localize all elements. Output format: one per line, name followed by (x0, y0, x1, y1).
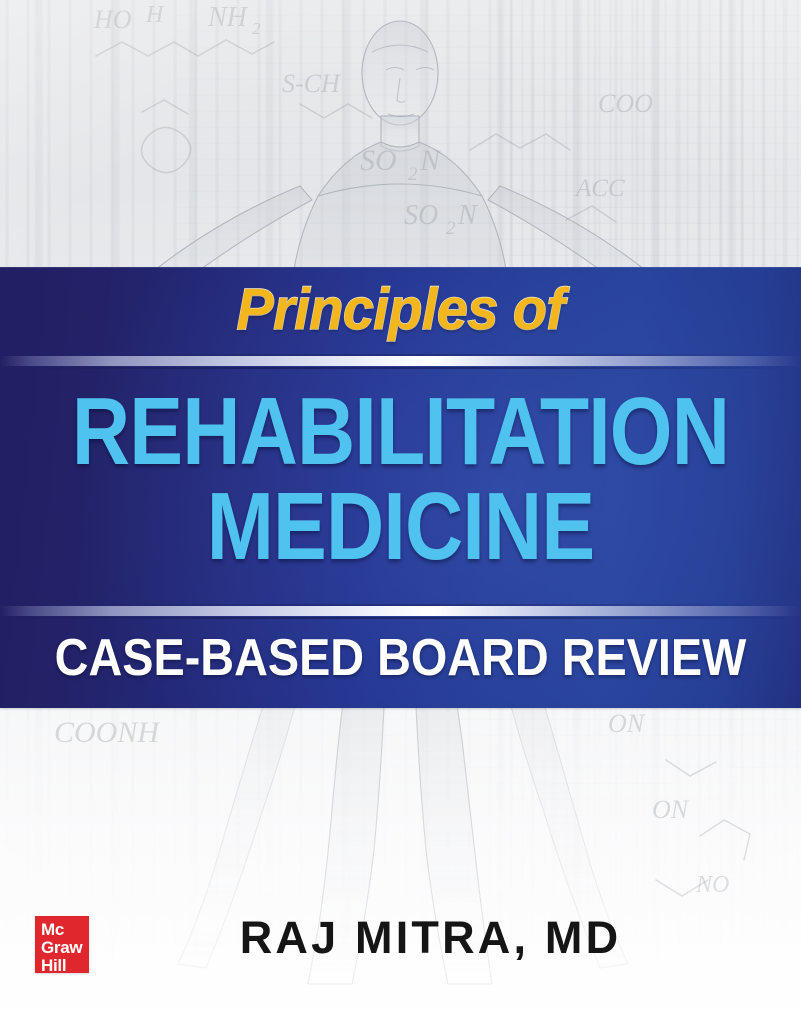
book-subtitle: CASE-BASED BOARD REVIEW (40, 632, 761, 684)
divider-rule-bottom (0, 606, 801, 616)
title-prefix: Principles of (16, 281, 785, 339)
book-title: REHABILITATION MEDICINE (0, 384, 801, 574)
divider-rule-top (0, 356, 801, 366)
book-title-line-2: MEDICINE (64, 479, 737, 574)
author-name: RAJ MITRA, MD (130, 915, 731, 960)
mcgraw-hill-logo: Mc Graw Hill (35, 916, 89, 973)
logo-line-3: Hill (41, 957, 89, 975)
logo-line-1: Mc (41, 921, 89, 939)
book-title-line-1: REHABILITATION (64, 384, 737, 479)
logo-line-2: Graw (41, 939, 89, 957)
book-cover: HO H NH 2 S-CH SO 2 N SO 2 N COO ACC COO… (0, 0, 801, 1024)
